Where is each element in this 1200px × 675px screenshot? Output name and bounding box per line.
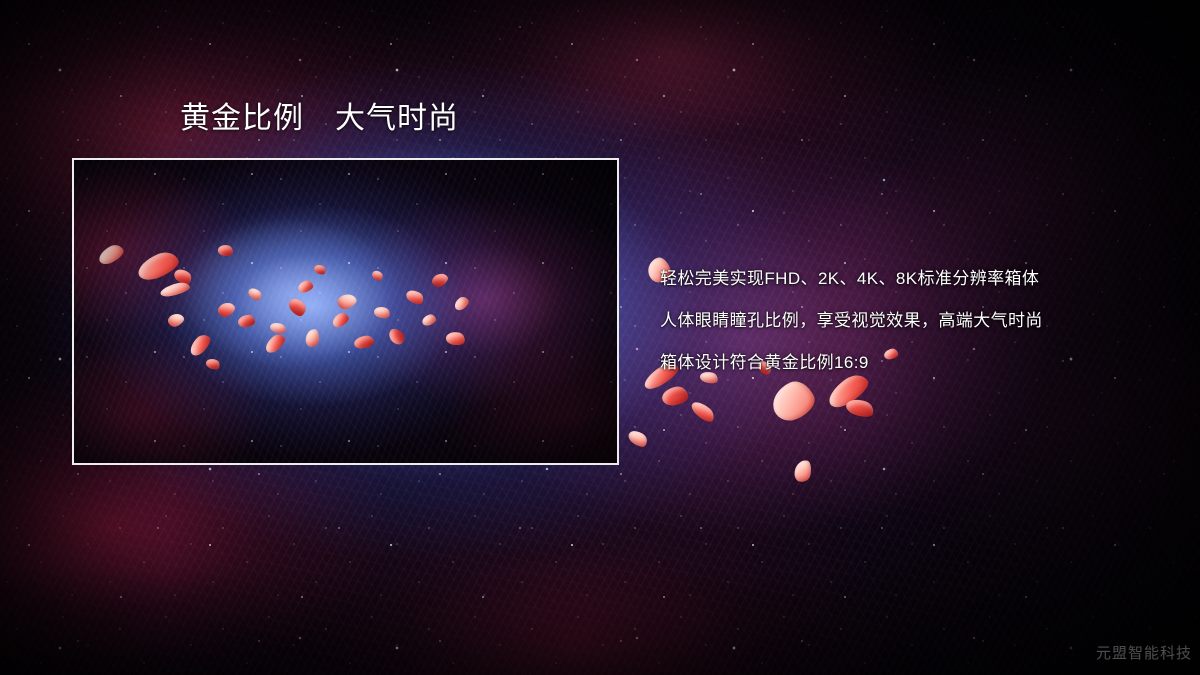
slide-canvas: 黄金比例 大气时尚 轻松完美实现FHD、2K、4K、8K标准分辨率箱体 人体眼睛… bbox=[0, 0, 1200, 675]
description-line-3: 箱体设计符合黄金比例16:9 bbox=[660, 342, 1180, 384]
flower-petal bbox=[793, 459, 813, 484]
description-block: 轻松完美实现FHD、2K、4K、8K标准分辨率箱体 人体眼睛瞳孔比例，享受视觉效… bbox=[660, 258, 1180, 384]
preview-frame-content bbox=[74, 160, 617, 463]
watermark-label: 元盟智能科技 bbox=[1096, 642, 1192, 663]
preview-vignette bbox=[74, 160, 617, 463]
flower-petal bbox=[661, 385, 689, 406]
flower-petal bbox=[689, 398, 717, 425]
description-line-2: 人体眼睛瞳孔比例，享受视觉效果，高端大气时尚 bbox=[660, 300, 1180, 342]
flower-petal bbox=[626, 427, 650, 449]
page-title: 黄金比例 大气时尚 bbox=[180, 101, 459, 136]
preview-frame bbox=[72, 158, 619, 465]
description-line-1: 轻松完美实现FHD、2K、4K、8K标准分辨率箱体 bbox=[660, 258, 1180, 300]
